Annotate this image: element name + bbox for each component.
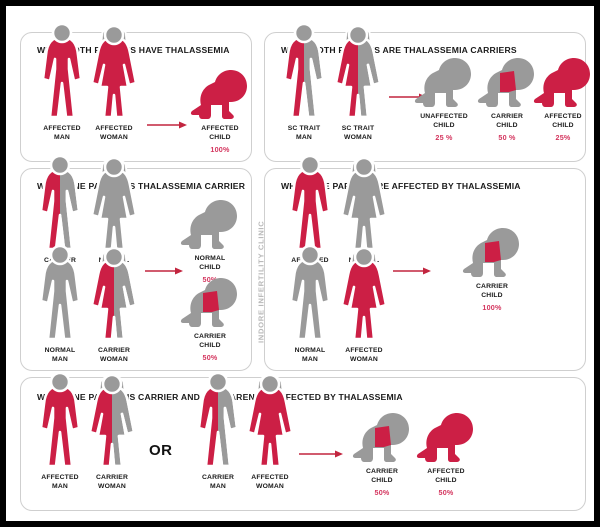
figure-parent: NORMAL MAN	[29, 287, 91, 364]
percent-value: 25%	[556, 133, 571, 142]
panel-one-parent-affected: WHEN ONE PARENT ARE AFFECTED BY THALASSE…	[264, 168, 586, 371]
man-normal-icon	[36, 287, 84, 343]
infographic-frame: WHEN BOTH PARENTS HAVE THALASSEMIA AFFEC…	[6, 6, 594, 521]
figure-child: CARRIER CHILD 50 %	[477, 67, 537, 142]
percent-value: 100%	[210, 145, 229, 154]
figure-label: AFFECTED MAN	[41, 474, 78, 491]
figure-label: AFFECTED CHILD	[427, 468, 464, 485]
panel-both-parents-affected: WHEN BOTH PARENTS HAVE THALASSEMIA AFFEC…	[20, 32, 252, 162]
woman-carrier-icon	[90, 287, 138, 343]
figure-parent: NORMAL MAN	[279, 287, 341, 364]
figure-label: CARRIER CHILD	[366, 468, 398, 485]
figure-parent: AFFECTED WOMAN	[333, 287, 395, 364]
figure-label: NORMAL CHILD	[195, 255, 226, 272]
arrow-icon	[147, 117, 189, 135]
percent-value: 100%	[482, 303, 501, 312]
figure-label: AFFECTED CHILD	[544, 113, 581, 130]
figure-child: AFFECTED CHILD 25%	[533, 67, 593, 142]
figure-label: NORMAL MAN	[295, 347, 326, 364]
panel-carrier-and-affected: WHEN ONE PARENT IS CARRIER AND ONE PAREN…	[20, 377, 586, 511]
figure-child: AFFECTED CHILD 50%	[415, 422, 477, 497]
baby-affected-icon	[189, 79, 251, 121]
figure-label: SC TRAIT MAN	[288, 125, 321, 142]
woman-affected-icon	[340, 287, 388, 343]
figure-label: CARRIER CHILD	[194, 333, 226, 350]
arrow-icon	[299, 446, 345, 464]
figure-label: CARRIER MAN	[202, 474, 234, 491]
percent-value: 50%	[203, 353, 218, 362]
panel-one-parent-carrier: WHEN ONE PARENT IS THALASSEMIA CARRIER C…	[20, 168, 252, 371]
figure-label: CARRIER CHILD	[491, 113, 523, 130]
figure-label: AFFECTED WOMAN	[95, 125, 132, 142]
figure-label: CARRIER WOMAN	[98, 347, 130, 364]
figure-parent: SC TRAIT WOMAN	[327, 65, 389, 142]
baby-normal-icon	[413, 67, 475, 109]
man-affected-icon	[36, 414, 84, 470]
figure-label: AFFECTED MAN	[43, 125, 80, 142]
man-carrier-icon	[280, 65, 328, 121]
woman-affected-icon	[90, 65, 138, 121]
woman-affected-icon	[246, 414, 294, 470]
arrow-icon	[393, 263, 433, 281]
percent-value: 50%	[439, 488, 454, 497]
man-normal-icon	[286, 287, 334, 343]
baby-carrier-icon	[351, 422, 413, 464]
figure-child: CARRIER CHILD 100%	[461, 237, 523, 312]
percent-value: 50%	[375, 488, 390, 497]
figure-child: CARRIER CHILD 50%	[351, 422, 413, 497]
panel-both-parents-carriers: WHEN BOTH PARENTS ARE THALASSEMIA CARRIE…	[264, 32, 586, 162]
percent-value: 25 %	[435, 133, 452, 142]
clinic-watermark: INDORE INFERTILITY CLINIC	[254, 194, 268, 369]
or-label: OR	[149, 442, 173, 459]
woman-carrier-icon	[88, 414, 136, 470]
figure-label: AFFECTED WOMAN	[251, 474, 288, 491]
figure-parent: SC TRAIT MAN	[273, 65, 335, 142]
figure-label: SC TRAIT WOMAN	[342, 125, 375, 142]
figure-child: AFFECTED CHILD 100%	[189, 79, 251, 154]
baby-affected-icon	[532, 67, 594, 109]
figure-label: AFFECTED CHILD	[201, 125, 238, 142]
figure-parent: CARRIER WOMAN	[83, 287, 145, 364]
figure-label: CARRIER WOMAN	[96, 474, 128, 491]
baby-affected-icon	[415, 422, 477, 464]
baby-carrier-icon	[461, 237, 523, 279]
figure-label: UNAFFECTED CHILD	[420, 113, 468, 130]
figure-label: AFFECTED WOMAN	[345, 347, 382, 364]
man-carrier-icon	[194, 414, 242, 470]
baby-normal-icon	[179, 209, 241, 251]
woman-carrier-icon	[334, 65, 382, 121]
percent-value: 50 %	[498, 133, 515, 142]
baby-carrier-icon	[179, 287, 241, 329]
figure-parent: AFFECTED WOMAN	[83, 65, 145, 142]
figure-child: CARRIER CHILD 50%	[179, 287, 241, 362]
figure-label: NORMAL MAN	[45, 347, 76, 364]
figure-parent: CARRIER WOMAN	[81, 414, 143, 491]
figure-label: CARRIER CHILD	[476, 283, 508, 300]
figure-parent: AFFECTED WOMAN	[239, 414, 301, 491]
figure-child: UNAFFECTED CHILD 25 %	[411, 67, 477, 142]
baby-carrier-icon	[476, 67, 538, 109]
man-affected-icon	[38, 65, 86, 121]
